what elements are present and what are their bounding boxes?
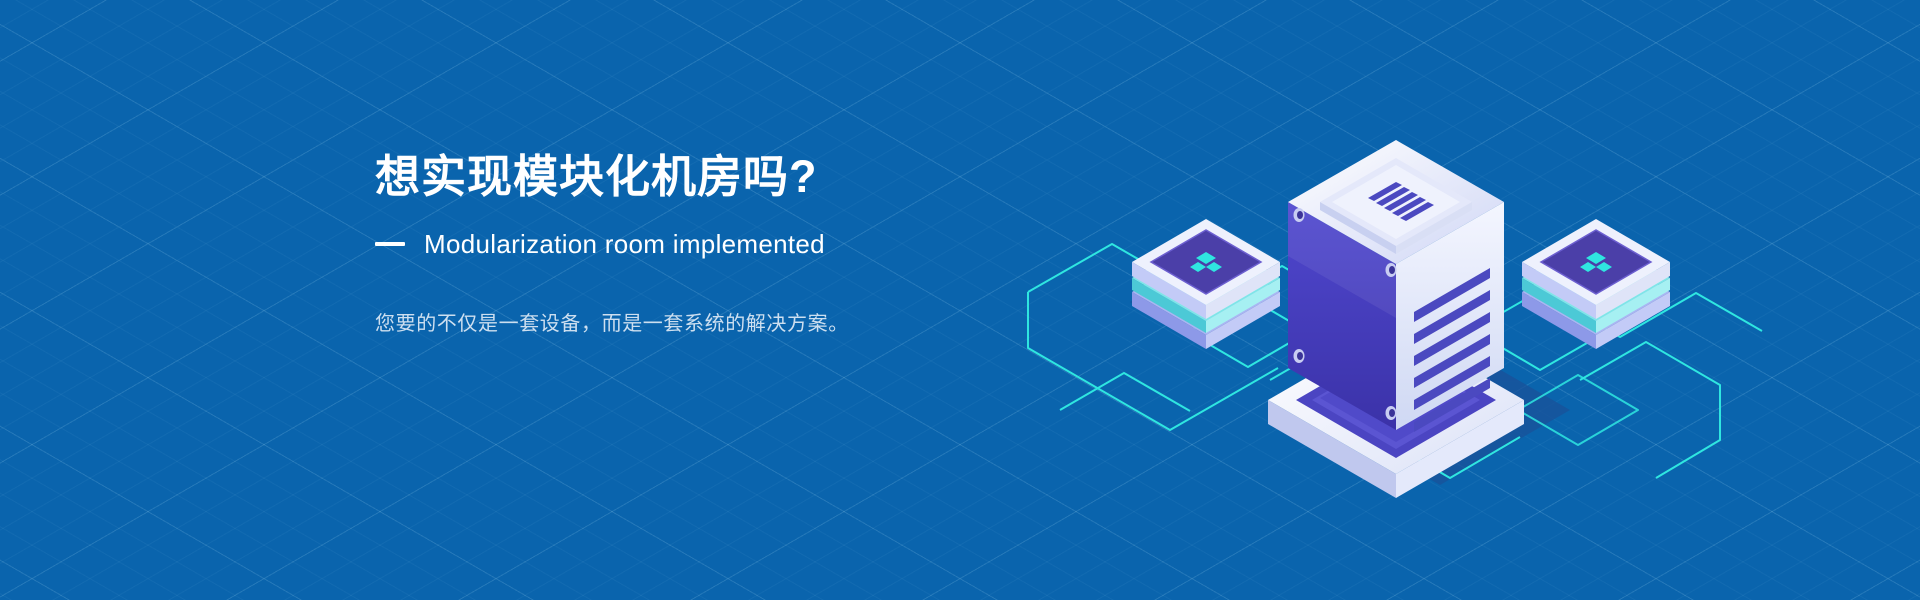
hero-headline: 想实现模块化机房吗? — [375, 150, 1095, 205]
hero-subtitle-row: Modularization room implemented — [375, 229, 1095, 260]
hero-subtitle: Modularization room implemented — [424, 229, 825, 260]
hero-banner: 想实现模块化机房吗? Modularization room implement… — [0, 0, 1920, 600]
isometric-server-illustration — [1020, 80, 1800, 520]
chip-module-left — [1132, 219, 1280, 349]
hero-copy-block: 想实现模块化机房吗? Modularization room implement… — [375, 150, 1095, 340]
chip-module-right — [1522, 219, 1670, 349]
hero-body-text: 您要的不仅是一套设备，而是一套系统的解决方案。 — [375, 308, 1095, 340]
dash-rule-icon — [375, 242, 405, 246]
